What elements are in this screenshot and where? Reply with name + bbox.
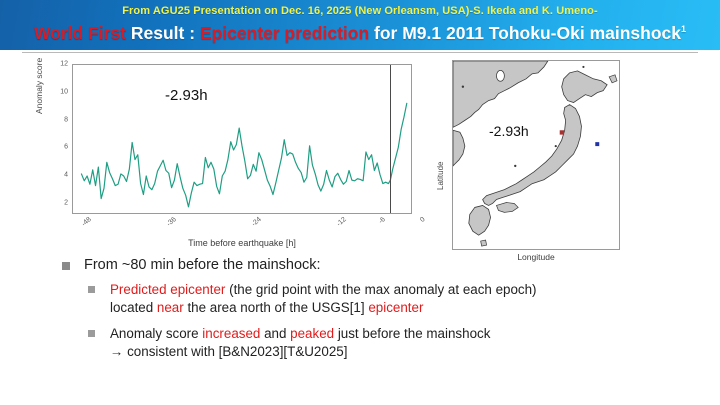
islet-dot-2 [514, 165, 516, 167]
chart-y-tick: 6 [64, 144, 68, 151]
islet-dot-1 [462, 86, 464, 88]
bullet-2-near: near [157, 300, 184, 315]
chart-series-svg [73, 65, 411, 213]
banner-title-tail: for M9.1 2011 Tohoku-Oki mainshock [369, 23, 681, 43]
bullet-2-epicenter: epicenter [368, 300, 423, 315]
bullet-2-text: Predicted epicenter (the grid point with… [110, 282, 537, 315]
islet-dot-3 [555, 145, 557, 147]
chart-annotation-label: -2.93h [165, 87, 208, 104]
chart-y-tick: 10 [60, 88, 68, 95]
bullet-1-text: From ~80 min before the mainshock: [84, 257, 321, 273]
bullet-3-line1-c: just before the mainshock [334, 326, 490, 341]
chart-y-tick: 4 [64, 172, 68, 179]
hokkaido [562, 71, 607, 103]
bullet-3-line1-b: and [260, 326, 290, 341]
shikoku [496, 202, 518, 212]
korea-peninsula [453, 130, 465, 166]
header-divider [22, 52, 698, 53]
chart-plot-area: -2.93h [72, 64, 412, 214]
map-y-axis-label: Latitude [436, 162, 445, 190]
bullet-item-2: Predicted epicenter (the grid point with… [88, 281, 702, 317]
chart-y-tick: 2 [64, 199, 68, 206]
banner-title-epicenter-prediction: Epicenter prediction [200, 23, 369, 43]
chart-x-tick: -6 [377, 216, 386, 225]
hokkaido-islet [609, 75, 617, 83]
epicenter-map: Latitude [434, 60, 624, 272]
banner-title-superscript: 1 [681, 24, 686, 34]
bullet-item-3: Anomaly score increased and peaked just … [88, 325, 702, 361]
bullet-3-line1-a: Anomaly score [110, 326, 202, 341]
slide: From AGU25 Presentation on Dec. 16, 2025… [0, 0, 720, 405]
islet-dot-4 [582, 66, 584, 68]
chart-x-axis-ticks: -48-36-24-12-60 [72, 216, 412, 238]
chart-y-tick: 8 [64, 116, 68, 123]
bullet-3-increased: increased [202, 326, 260, 341]
banner-title: World First Result : Epicenter predictio… [0, 23, 720, 44]
bullet-2-line2-b: the area north of the USGS[1] [184, 300, 369, 315]
chart-y-axis-label: Anomaly score [34, 58, 44, 114]
kyushu [469, 205, 491, 235]
bullet-item-1: From ~80 min before the mainshock: [62, 256, 702, 274]
chart-y-tick: 12 [60, 61, 68, 68]
map-plot-area: -2.93h [452, 60, 620, 250]
chart-x-axis-label: Time before earthquake [h] [72, 238, 412, 248]
bullet-3-line2: → consistent with [B&N2023][T&U2025] [110, 344, 347, 359]
anomaly-score-chart: Anomaly score 24681012 -2.93h -48-36-24-… [38, 62, 420, 252]
bullet-3-peaked: peaked [290, 326, 334, 341]
chart-vertical-marker-line [390, 65, 391, 213]
square-bullet-icon [88, 330, 95, 337]
banner-subtitle: From AGU25 Presentation on Dec. 16, 2025… [0, 5, 720, 17]
bullet-2-predicted-epicenter: Predicted epicenter [110, 282, 225, 297]
chart-y-axis-ticks: 24681012 [48, 62, 70, 214]
body-content: From ~80 min before the mainshock: Predi… [62, 256, 702, 369]
chart-x-tick: -36 [166, 216, 178, 228]
bullet-2-line2-a: located [110, 300, 157, 315]
honshu [483, 105, 582, 206]
square-bullet-icon [88, 286, 95, 293]
chart-x-tick: -12 [336, 216, 348, 228]
title-banner: From AGU25 Presentation on Dec. 16, 2025… [0, 0, 720, 50]
banner-title-result: Result : [126, 23, 200, 43]
predicted-epicenter-marker [560, 130, 564, 134]
bullet-2-rest: (the grid point with the max anomaly at … [225, 282, 536, 297]
chart-x-tick: -24 [251, 216, 263, 228]
usgs-epicenter-marker [595, 142, 599, 146]
map-svg [453, 61, 619, 249]
southern-islet [481, 240, 487, 246]
square-bullet-icon [62, 262, 70, 270]
chart-x-tick: 0 [419, 216, 427, 224]
lake-island [496, 70, 504, 81]
banner-title-world-first: World First [34, 23, 126, 43]
map-annotation-label: -2.93h [489, 123, 529, 139]
chart-x-tick: -48 [81, 216, 93, 228]
bullet-3-text: Anomaly score increased and peaked just … [110, 326, 490, 359]
